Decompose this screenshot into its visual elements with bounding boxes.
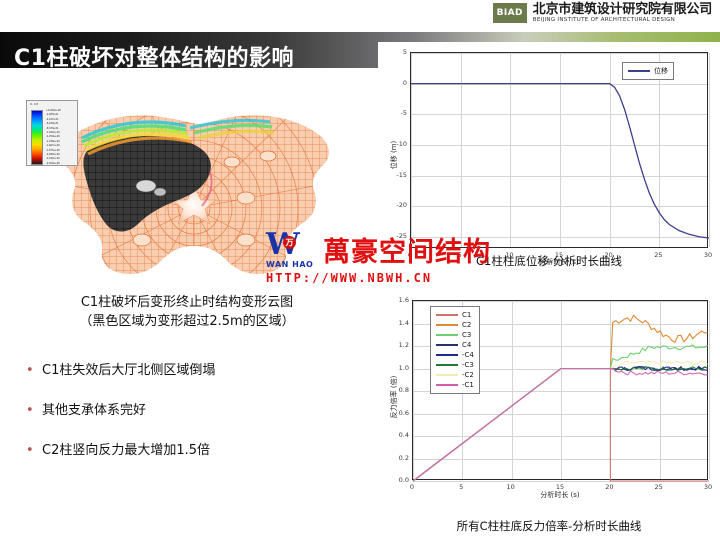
legend-label: -C4: [462, 351, 474, 359]
legend-item[interactable]: -C4: [436, 350, 474, 360]
legend-swatch-icon: [436, 354, 458, 356]
contour-value: -2.083e+00: [46, 154, 61, 156]
y-axis-tick-label: -15: [384, 171, 407, 179]
list-item: • 其他支承体系完好: [26, 402, 366, 420]
legend-swatch-icon: [436, 374, 458, 376]
y-axis-tick-label: 1.6: [386, 296, 409, 304]
x-axis-tick-label: 15: [550, 483, 570, 491]
x-axis-tick-label: 0: [402, 483, 422, 491]
series-line: [411, 84, 709, 238]
series-canvas: [411, 53, 709, 249]
contour-value: +0.000e+00: [46, 110, 61, 112]
legend-swatch-icon: [436, 324, 458, 326]
contour-value: -1.667e+00: [46, 145, 61, 147]
legend-label: C3: [462, 331, 471, 339]
legend-swatch-icon: [436, 344, 458, 346]
contour-value: -1.458e+00: [46, 141, 61, 143]
legend-label: -C1: [462, 381, 474, 389]
list-item: • C1柱失效后大厅北侧区域倒塌: [26, 362, 366, 380]
x-axis-tick-label: 25: [649, 483, 669, 491]
legend-swatch-icon: [436, 334, 458, 336]
contour-legend-title: U, U3: [30, 102, 38, 106]
legend-label: C2: [462, 321, 471, 329]
y-axis-label: 反力倍率 (倍): [389, 365, 399, 429]
contour-value: -2.083e-01: [46, 114, 61, 116]
y-axis-tick-label: 1.2: [386, 341, 409, 349]
contour-legend: U, U3 +0.000e+00 -2.083e-01 -4.167e-01 -…: [26, 100, 78, 166]
bullet-text: 其他支承体系完好: [42, 402, 146, 420]
legend-item[interactable]: C4: [436, 340, 474, 350]
chart-legend[interactable]: 位移: [622, 62, 674, 80]
x-axis-tick-label: 10: [501, 483, 521, 491]
structure-image-caption: C1柱破坏后变形终止时结构变形云图 （黑色区域为变形超过2.5m的区域）: [22, 294, 352, 332]
biad-logo: BIAD 北京市建筑设计研究院有限公司 BEIJING INSTITUTE OF…: [493, 3, 712, 23]
contour-legend-labels: +0.000e+00 -2.083e-01 -4.167e-01 -6.250e…: [46, 110, 61, 165]
y-axis-tick-label: 0.6: [386, 409, 409, 417]
list-item: • C2柱竖向反力最大增加1.5倍: [26, 442, 366, 460]
contour-value: -1.250e+00: [46, 136, 61, 138]
y-axis-tick-label: -25: [384, 232, 407, 240]
x-axis-tick-label: 30: [698, 483, 718, 491]
biad-logo-mark: BIAD: [493, 3, 527, 23]
legend-label: -C2: [462, 371, 474, 379]
caption-line-2: （黑色区域为变形超过2.5m的区域）: [22, 313, 352, 332]
structure-deformation-image: U, U3 +0.000e+00 -2.083e-01 -4.167e-01 -…: [18, 88, 370, 288]
y-axis-tick-label: 0: [384, 79, 407, 87]
contour-value: -2.500e+00: [46, 163, 61, 165]
company-name-en: BEIJING INSTITUTE OF ARCHITECTURAL DESIG…: [533, 18, 712, 24]
contour-value: -8.333e-01: [46, 128, 61, 130]
legend-item[interactable]: -C2: [436, 370, 474, 380]
legend-item[interactable]: 位移: [628, 66, 668, 76]
grid-line-vertical: [709, 53, 710, 247]
legend-label: C1: [462, 311, 471, 319]
bullet-marker-icon: •: [26, 402, 42, 420]
company-name-cn: 北京市建筑设计研究院有限公司: [533, 3, 712, 17]
x-axis-tick-label: 5: [451, 483, 471, 491]
legend-swatch-icon: [436, 384, 458, 386]
legend-item[interactable]: C2: [436, 320, 474, 330]
y-axis-tick-label: 0.4: [386, 431, 409, 439]
legend-swatch-icon: [628, 70, 650, 72]
x-axis-tick-label: 20: [599, 483, 619, 491]
legend-label: -C3: [462, 361, 474, 369]
y-axis-tick-label: 5: [384, 48, 407, 56]
reaction-ratio-chart: 反力倍率 (倍) 分析时长 (s) 0.00.20.40.60.81.01.21…: [378, 292, 720, 514]
legend-label: 位移: [654, 66, 668, 76]
legend-label: C4: [462, 341, 471, 349]
legend-item[interactable]: C1: [436, 310, 474, 320]
legend-item[interactable]: -C1: [436, 380, 474, 390]
y-axis-tick-label: -5: [384, 109, 407, 117]
reaction-ratio-chart-caption: 所有C柱柱底反力倍率-分析时长曲线: [378, 518, 720, 534]
contour-value: -4.167e-01: [46, 119, 61, 121]
bullet-marker-icon: •: [26, 362, 42, 380]
contour-color-bar: [31, 110, 43, 165]
legend-item[interactable]: -C3: [436, 360, 474, 370]
legend-swatch-icon: [436, 364, 458, 366]
displacement-chart-caption: C1柱柱底位移-分析时长曲线: [378, 253, 720, 269]
bullet-text: C1柱失效后大厅北侧区域倒塌: [42, 362, 215, 380]
page-header: BIAD 北京市建筑设计研究院有限公司 BEIJING INSTITUTE OF…: [0, 0, 720, 30]
bullet-marker-icon: •: [26, 442, 42, 460]
bullet-text: C2柱竖向反力最大增加1.5倍: [42, 442, 210, 460]
contour-value: -1.875e+00: [46, 150, 61, 152]
legend-item[interactable]: C3: [436, 330, 474, 340]
page-title: C1柱破坏对整体结构的影响: [14, 40, 294, 72]
y-axis-tick-label: -10: [384, 140, 407, 148]
contour-value: -6.250e-01: [46, 123, 61, 125]
contour-value: -1.042e+00: [46, 132, 61, 134]
chart-legend[interactable]: C1C2C3C4-C4-C3-C2-C1: [430, 306, 480, 394]
grid-line-vertical: [709, 301, 710, 479]
displacement-chart: 位移 (m) 分析时长 (s) 50-5-10-15-20-2505101520…: [378, 42, 720, 272]
contour-value: -2.292e+00: [46, 158, 61, 160]
caption-line-1: C1柱破坏后变形终止时结构变形云图: [22, 294, 352, 313]
y-axis-tick-label: -20: [384, 201, 407, 209]
y-axis-tick-label: 0.8: [386, 386, 409, 394]
plot-area: [410, 52, 708, 248]
y-axis-tick-label: 1.0: [386, 364, 409, 372]
bullet-list: • C1柱失效后大厅北侧区域倒塌 • 其他支承体系完好 • C2柱竖向反力最大增…: [26, 362, 366, 482]
legend-swatch-icon: [436, 314, 458, 316]
y-axis-tick-label: 0.2: [386, 454, 409, 462]
biad-logo-text: 北京市建筑设计研究院有限公司 BEIJING INSTITUTE OF ARCH…: [533, 3, 712, 23]
y-axis-tick-label: 1.4: [386, 319, 409, 327]
x-axis-label: 分析时长 (s): [412, 490, 708, 500]
